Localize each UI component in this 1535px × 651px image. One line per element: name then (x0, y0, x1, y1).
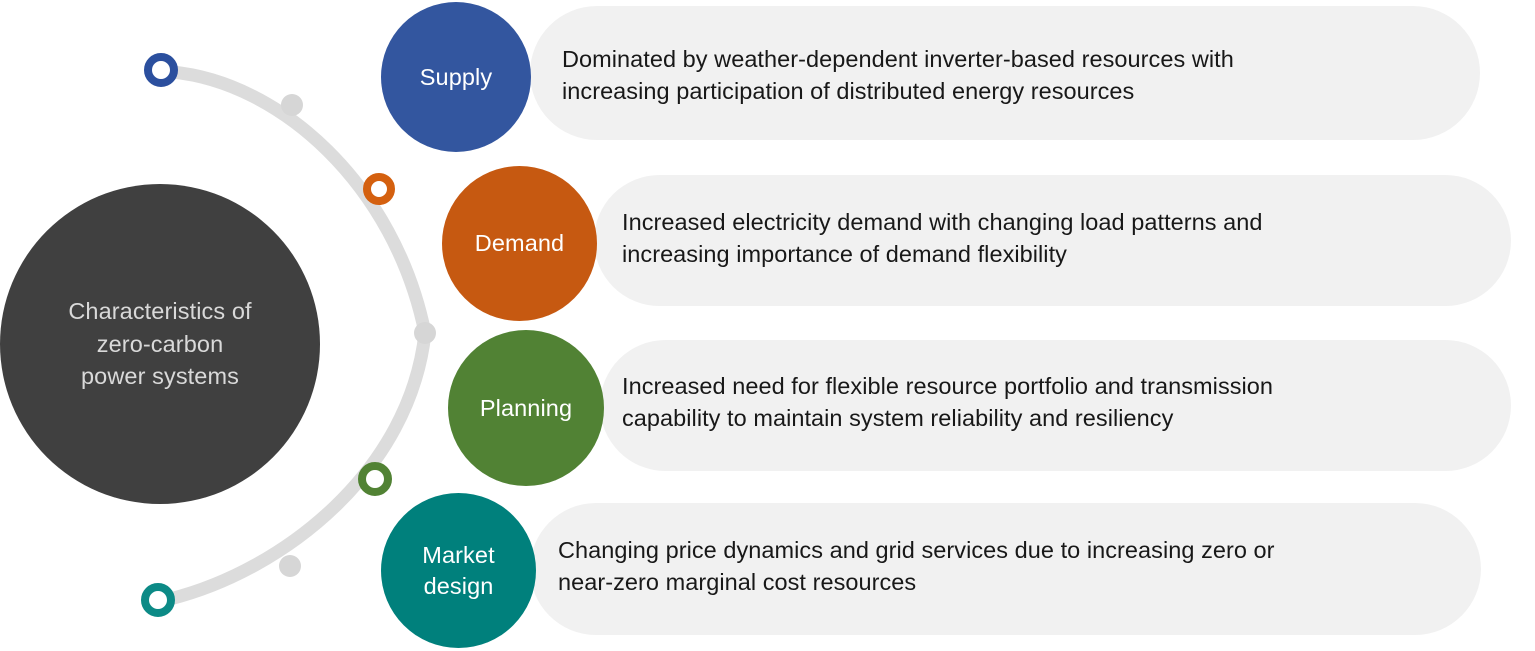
arc-node-lower (279, 555, 301, 577)
arc-node-mid (414, 322, 436, 344)
bubble-supply[interactable]: Supply (381, 2, 531, 152)
pill-market-design-text: Changing price dynamics and grid service… (558, 534, 1458, 599)
bubble-planning-label: Planning (480, 393, 572, 424)
bubble-demand-label: Demand (475, 228, 564, 259)
planning-ring-marker[interactable] (362, 466, 388, 492)
diagram-canvas: Characteristics of zero-carbon power sys… (0, 0, 1535, 651)
bubble-market-design[interactable]: Market design (381, 493, 536, 648)
pill-supply-text: Dominated by weather-dependent inverter-… (562, 43, 1452, 108)
bubble-market-design-label: Market design (422, 540, 494, 601)
pill-planning-text: Increased need for flexible resource por… (622, 370, 1502, 435)
pill-demand-text: Increased electricity demand with changi… (622, 206, 1492, 271)
central-hub-label: Characteristics of zero-carbon power sys… (42, 295, 277, 392)
market-ring-marker[interactable] (145, 587, 171, 613)
bubble-supply-label: Supply (420, 62, 492, 93)
bubble-planning[interactable]: Planning (448, 330, 604, 486)
arc-node-upper (281, 94, 303, 116)
bubble-demand[interactable]: Demand (442, 166, 597, 321)
demand-ring-marker[interactable] (367, 177, 391, 201)
supply-ring-marker[interactable] (148, 57, 174, 83)
central-hub[interactable]: Characteristics of zero-carbon power sys… (0, 184, 320, 504)
